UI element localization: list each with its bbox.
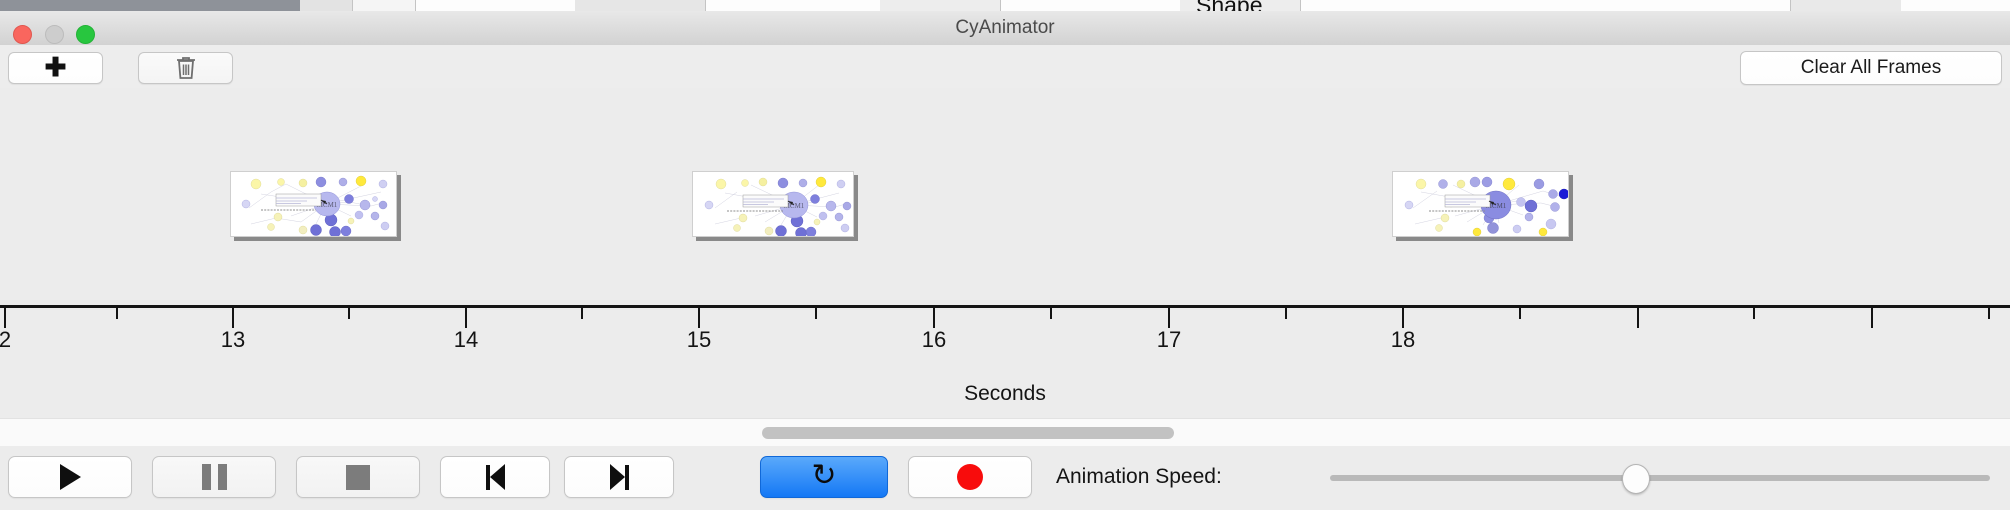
record-button[interactable] xyxy=(908,456,1032,498)
ruler-tick xyxy=(4,308,6,328)
title-bar: CyAnimator xyxy=(0,11,2010,46)
ruler-tick xyxy=(232,308,234,328)
timeline-scrollbar[interactable] xyxy=(0,418,2010,447)
slider-thumb[interactable] xyxy=(1622,464,1650,494)
ruler-tick-label: 14 xyxy=(454,327,478,353)
timeline-frame-thumbnail[interactable]: MCM1 xyxy=(692,171,854,237)
ruler-tick xyxy=(1637,308,1639,328)
ruler-axis-title: Seconds xyxy=(0,382,2010,406)
ruler-tick xyxy=(1519,308,1521,319)
background-window-strip: Shape xyxy=(0,0,2010,11)
stop-button[interactable] xyxy=(296,456,420,498)
window-title: CyAnimator xyxy=(0,11,2010,45)
timeline-panel[interactable]: MCM1 xyxy=(0,88,2010,310)
ruler-tick-label: 2 xyxy=(0,327,11,353)
skip-forward-icon xyxy=(610,464,629,490)
ruler-tick xyxy=(815,308,817,319)
background-cell-f xyxy=(1790,0,1901,11)
time-ruler[interactable]: 2131415161718 xyxy=(0,305,2010,352)
ruler-tick xyxy=(1871,308,1873,328)
add-frame-button[interactable]: ✚ xyxy=(8,52,103,84)
ruler-tick xyxy=(1988,308,1990,319)
skip-forward-button[interactable] xyxy=(564,456,674,498)
timeline-scrollbar-thumb[interactable] xyxy=(762,427,1174,439)
timeline-frame-thumbnail[interactable]: MCM1 xyxy=(230,171,397,237)
ruler-tick xyxy=(698,308,700,328)
background-cell-d xyxy=(880,0,1001,11)
record-icon xyxy=(957,464,983,490)
ruler-tick xyxy=(1402,308,1404,328)
transport-bar: ↻ Animation Speed: xyxy=(0,446,2010,510)
ruler-tick xyxy=(116,308,118,319)
ruler-tick xyxy=(1168,308,1170,328)
plus-icon: ✚ xyxy=(45,54,67,80)
timeline-frame-thumbnail[interactable]: MCM1 xyxy=(1392,171,1569,237)
ruler-tick xyxy=(348,308,350,319)
delete-frame-button[interactable] xyxy=(138,52,233,84)
toolbar: ✚ Clear All Frames xyxy=(0,45,2010,89)
background-cell-a xyxy=(300,0,353,11)
ruler-tick-label: 13 xyxy=(221,327,245,353)
skip-back-icon xyxy=(486,464,505,490)
loop-icon: ↻ xyxy=(811,461,836,491)
ruler-tick-label: 16 xyxy=(922,327,946,353)
cyanimator-window: Shape CyAnimator ✚ Clear All Frames xyxy=(0,0,2010,510)
ruler-tick xyxy=(1285,308,1287,319)
pause-button[interactable] xyxy=(152,456,276,498)
play-button[interactable] xyxy=(8,456,132,498)
ruler-tick xyxy=(1753,308,1755,319)
ruler-tick-label: 18 xyxy=(1391,327,1415,353)
ruler-tick xyxy=(581,308,583,319)
ruler-tick xyxy=(465,308,467,328)
background-cell-b xyxy=(353,0,416,11)
animation-speed-slider[interactable] xyxy=(1330,456,1990,498)
ruler-tick-label: 17 xyxy=(1157,327,1181,353)
stop-icon xyxy=(346,465,370,490)
ruler-tick xyxy=(1050,308,1052,319)
ruler-axis-line xyxy=(0,305,2010,308)
ruler-tick-label: 15 xyxy=(687,327,711,353)
pause-icon xyxy=(202,464,227,490)
background-cell-c xyxy=(575,0,706,11)
play-icon xyxy=(60,464,81,490)
loop-button[interactable]: ↻ xyxy=(760,456,888,498)
slider-track[interactable] xyxy=(1330,475,1990,481)
ruler-tick xyxy=(933,308,935,328)
trash-icon xyxy=(175,55,197,81)
skip-back-button[interactable] xyxy=(440,456,550,498)
clear-all-frames-button[interactable]: Clear All Frames xyxy=(1740,51,2002,85)
background-label-shape: Shape xyxy=(1196,0,1263,11)
animation-speed-label: Animation Speed: xyxy=(1056,456,1222,498)
background-dark-panel xyxy=(0,0,300,11)
